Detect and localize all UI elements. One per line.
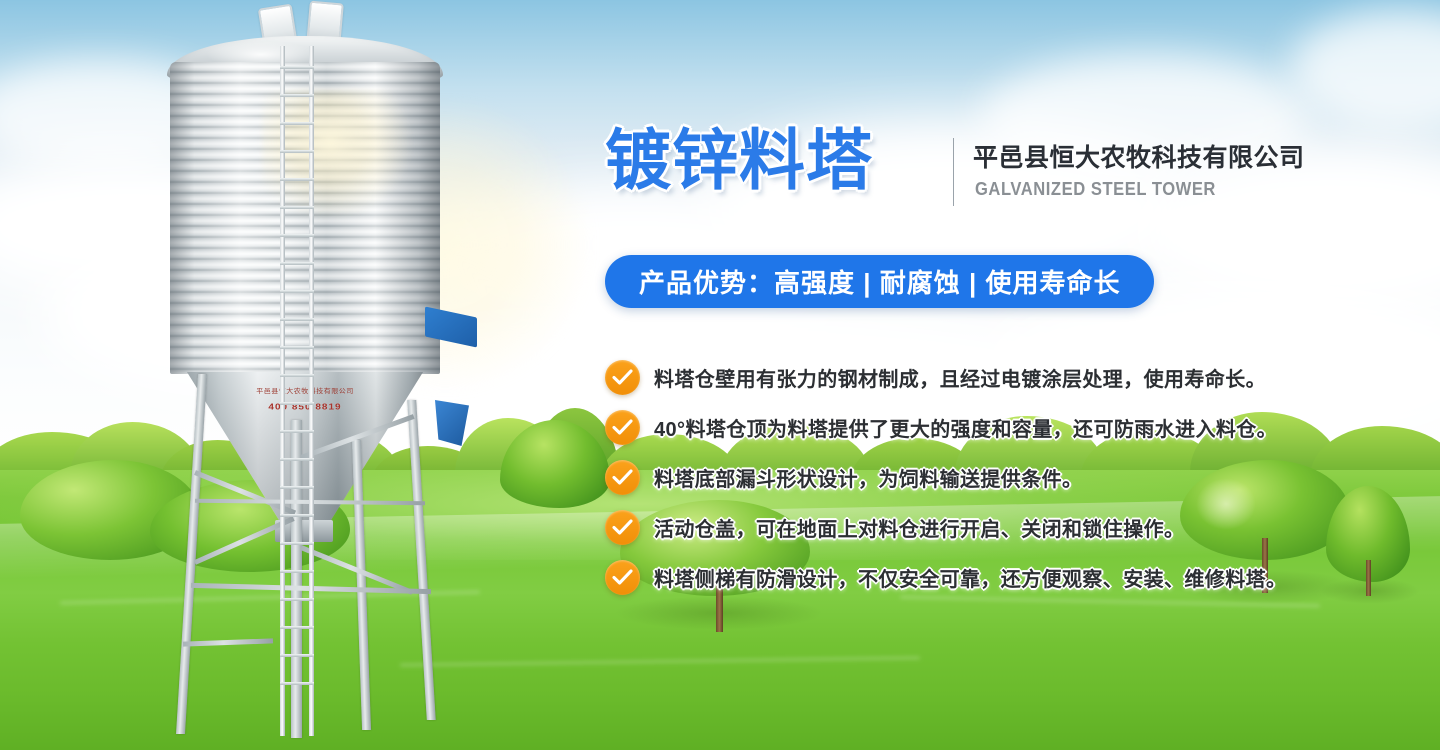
feature-text: 40°料塔仓顶为料塔提供了更大的强度和容量，还可防雨水进入料仓。: [654, 413, 1277, 442]
galvanized-steel-silo-image: 平邑县恒大农牧科技有限公司 400 850 8819: [95, 0, 515, 745]
feature-item: 料塔侧梯有防滑设计，不仅安全可靠，还方便观察、安装、维修料塔。: [605, 552, 1295, 602]
title-row: 镀锌料塔 平邑县恒大农牧科技有限公司 GALVANIZED STEEL TOWE…: [605, 118, 1295, 213]
check-circle-icon: [605, 360, 640, 395]
foreground-tree: [500, 420, 610, 515]
silo-leg: [407, 400, 436, 720]
feature-item: 40°料塔仓顶为料塔提供了更大的强度和容量，还可防雨水进入料仓。: [605, 402, 1295, 452]
feature-item: 活动仓盖，可在地面上对料仓进行开启、关闭和锁住操作。: [605, 502, 1295, 552]
company-name: 平邑县恒大农牧科技有限公司: [973, 138, 1305, 174]
company-name-english: GALVANIZED STEEL TOWER: [975, 179, 1216, 200]
feature-text: 活动仓盖，可在地面上对料仓进行开启、关闭和锁住操作。: [654, 513, 1184, 542]
check-circle-icon: [605, 410, 640, 445]
check-circle-icon: [605, 510, 640, 545]
check-circle-icon: [605, 460, 640, 495]
feature-text: 料塔底部漏斗形状设计，为饲料输送提供条件。: [654, 463, 1082, 492]
hero-text-panel: 镀锌料塔 平邑县恒大农牧科技有限公司 GALVANIZED STEEL TOWE…: [600, 0, 1300, 750]
page-title: 镀锌料塔: [605, 118, 873, 202]
title-divider: [953, 138, 954, 206]
silo-leg: [352, 440, 371, 730]
feature-text: 料塔仓壁用有张力的钢材制成，且经过电镀涂层处理，使用寿命长。: [654, 363, 1266, 392]
advantage-banner[interactable]: 产品优势：高强度 | 耐腐蚀 | 使用寿命长: [605, 255, 1154, 308]
foreground-tree: [1326, 486, 1410, 596]
silo-brace: [183, 638, 273, 646]
silo-blue-chute: [435, 400, 469, 446]
feature-list: 料塔仓壁用有张力的钢材制成，且经过电镀涂层处理，使用寿命长。 40°料塔仓顶为料…: [605, 352, 1295, 602]
silo-side-ladder: [280, 46, 314, 736]
check-circle-icon: [605, 560, 640, 595]
feature-item: 料塔底部漏斗形状设计，为饲料输送提供条件。: [605, 452, 1295, 502]
advantage-banner-label: 产品优势：高强度 | 耐腐蚀 | 使用寿命长: [639, 263, 1120, 300]
silo-leg: [176, 374, 207, 734]
feature-item: 料塔仓壁用有张力的钢材制成，且经过电镀涂层处理，使用寿命长。: [605, 352, 1295, 402]
feature-text: 料塔侧梯有防滑设计，不仅安全可靠，还方便观察、安装、维修料塔。: [654, 563, 1286, 592]
